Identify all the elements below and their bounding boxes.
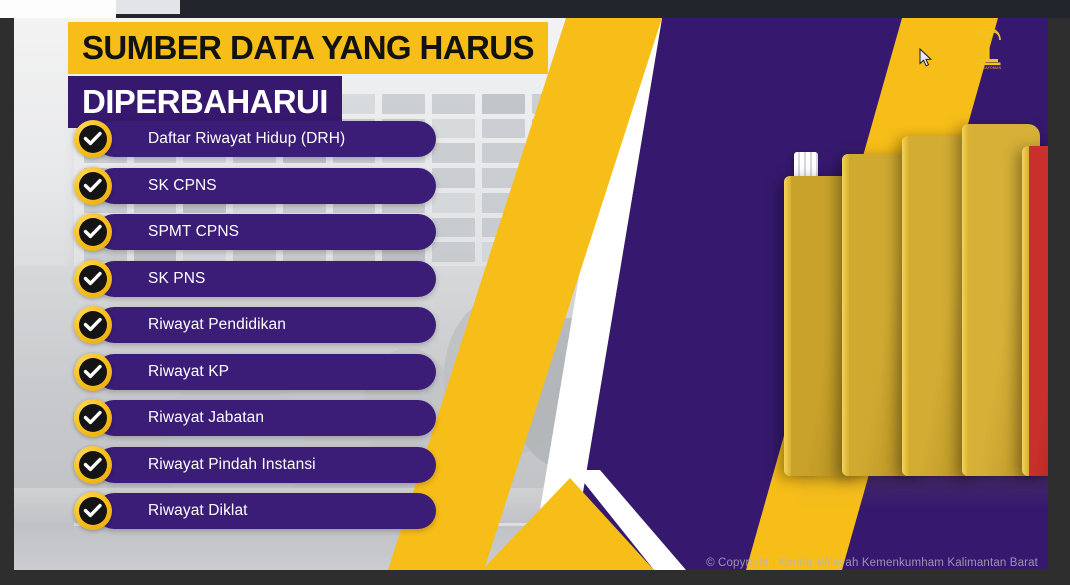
folder-spine <box>784 176 791 476</box>
copyright-footer: © Copyright | Kantor Wilayah Kemenkumham… <box>14 557 1048 569</box>
check-circle-icon <box>74 353 112 391</box>
check-circle-icon <box>74 260 112 298</box>
check-circle-icon <box>74 213 112 251</box>
checklist-item-label: Riwayat Pindah Instansi <box>148 456 316 474</box>
logo-caption: PENGAYOMAN <box>964 66 1012 70</box>
checklist-item-label: Riwayat Diklat <box>148 502 248 520</box>
check-circle-icon <box>74 120 112 158</box>
checklist-item-label: SK PNS <box>148 270 205 288</box>
checklist-item-pill[interactable]: Riwayat Pendidikan <box>96 307 436 343</box>
title-line-1: SUMBER DATA YANG HARUS <box>68 22 548 74</box>
left-gutter <box>0 18 14 585</box>
folder-spine <box>842 154 849 476</box>
folder-spine <box>902 136 909 476</box>
checklist-item-label: SK CPNS <box>148 177 217 195</box>
checklist-item-pill[interactable]: Riwayat KP <box>96 354 436 390</box>
folder-spine <box>1022 146 1029 476</box>
check-circle-icon <box>74 446 112 484</box>
checklist-item-pill[interactable]: Daftar Riwayat Hidup (DRH) <box>96 121 436 157</box>
application-window: PENGAYOMAN SUMBER DATA YANG HARUS DIPERB… <box>0 0 1070 585</box>
check-circle-icon <box>74 306 112 344</box>
checklist-item-pill[interactable]: SPMT CPNS <box>96 214 436 250</box>
kemenkumham-logo: PENGAYOMAN <box>964 22 1012 70</box>
checklist-item-label: Daftar Riwayat Hidup (DRH) <box>148 130 345 148</box>
check-circle-icon <box>74 167 112 205</box>
mouse-pointer <box>919 48 933 73</box>
checklist-item-label: SPMT CPNS <box>148 223 239 241</box>
folder-spine <box>962 124 969 476</box>
check-circle-icon <box>74 492 112 530</box>
bottom-gutter <box>0 570 1070 585</box>
checklist-item-label: Riwayat KP <box>148 363 229 381</box>
stack-of-folders-illustration <box>784 56 1048 476</box>
checklist-item-pill[interactable]: Riwayat Jabatan <box>96 400 436 436</box>
slide-title: SUMBER DATA YANG HARUS DIPERBAHARUI <box>68 22 548 128</box>
checklist-item-pill[interactable]: Riwayat Pindah Instansi <box>96 447 436 483</box>
titlebar-tab-active[interactable] <box>0 0 116 18</box>
checklist-item-pill[interactable]: SK CPNS <box>96 168 436 204</box>
right-gutter <box>1048 18 1070 585</box>
checklist-item-label: Riwayat Jabatan <box>148 409 264 427</box>
checklist-item-pill[interactable]: Riwayat Diklat <box>96 493 436 529</box>
check-circle-icon <box>74 399 112 437</box>
checklist-item-label: Riwayat Pendidikan <box>148 316 286 334</box>
titlebar-tab-inactive[interactable] <box>116 0 180 14</box>
checklist-item-pill[interactable]: SK PNS <box>96 261 436 297</box>
folder <box>1022 146 1048 476</box>
presentation-slide: PENGAYOMAN SUMBER DATA YANG HARUS DIPERB… <box>14 18 1048 570</box>
window-titlebar <box>0 0 1070 18</box>
